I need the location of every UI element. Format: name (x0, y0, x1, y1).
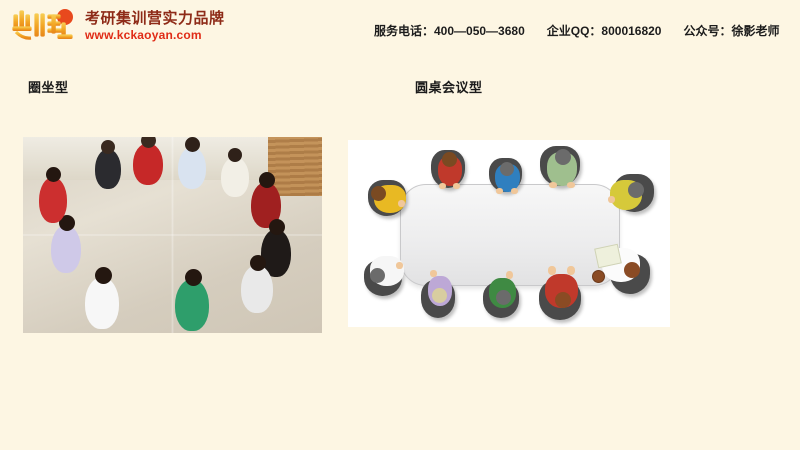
slide-root: 考研集训营实力品牌 www.kckaoyan.com 服务电话：400—050—… (0, 0, 800, 450)
slide-header: 考研集训营实力品牌 www.kckaoyan.com 服务电话：400—050—… (0, 0, 800, 56)
photo-person-head (185, 269, 202, 286)
photo-person-head (185, 137, 200, 152)
brand-text-block: 考研集训营实力品牌 www.kckaoyan.com (85, 11, 225, 41)
contact-wechat: 公众号：徐影老师 (683, 22, 779, 39)
brand-block: 考研集训营实力品牌 www.kckaoyan.com (8, 6, 225, 46)
photo-person (85, 277, 119, 329)
photo-person-head (101, 140, 115, 154)
photo-person (241, 265, 273, 313)
brand-tagline: 考研集训营实力品牌 (85, 11, 225, 27)
photo-person-head (141, 137, 156, 148)
photo-circle-seating (23, 137, 322, 333)
photo-person-head (95, 267, 112, 284)
kaicheng-logo-icon (8, 6, 80, 46)
photo-person (95, 149, 121, 189)
photo-person-head (46, 167, 61, 182)
contact-phone: 服务电话：400—050—3680 (374, 22, 525, 39)
photo-person-head (269, 219, 285, 235)
photo-person (39, 177, 67, 223)
photo-person-head (259, 172, 275, 188)
section-heading-circle-seating: 圈坐型 (28, 77, 69, 96)
photo-person (51, 225, 81, 273)
meeting-cup (592, 270, 605, 283)
contact-qq: 企业QQ：800016820 (547, 22, 662, 39)
photo-person (221, 157, 249, 197)
photo-person-head (228, 148, 242, 162)
section-heading-round-table: 圆桌会议型 (415, 77, 483, 96)
contact-info-bar: 服务电话：400—050—3680 企业QQ：800016820 公众号：徐影老… (374, 22, 780, 39)
brand-url: www.kckaoyan.com (85, 29, 225, 42)
photo-person (178, 147, 206, 189)
photo-person-head (250, 255, 266, 271)
illustration-round-table-meeting (348, 140, 670, 327)
photo-person (175, 279, 209, 331)
photo-person (133, 143, 163, 185)
